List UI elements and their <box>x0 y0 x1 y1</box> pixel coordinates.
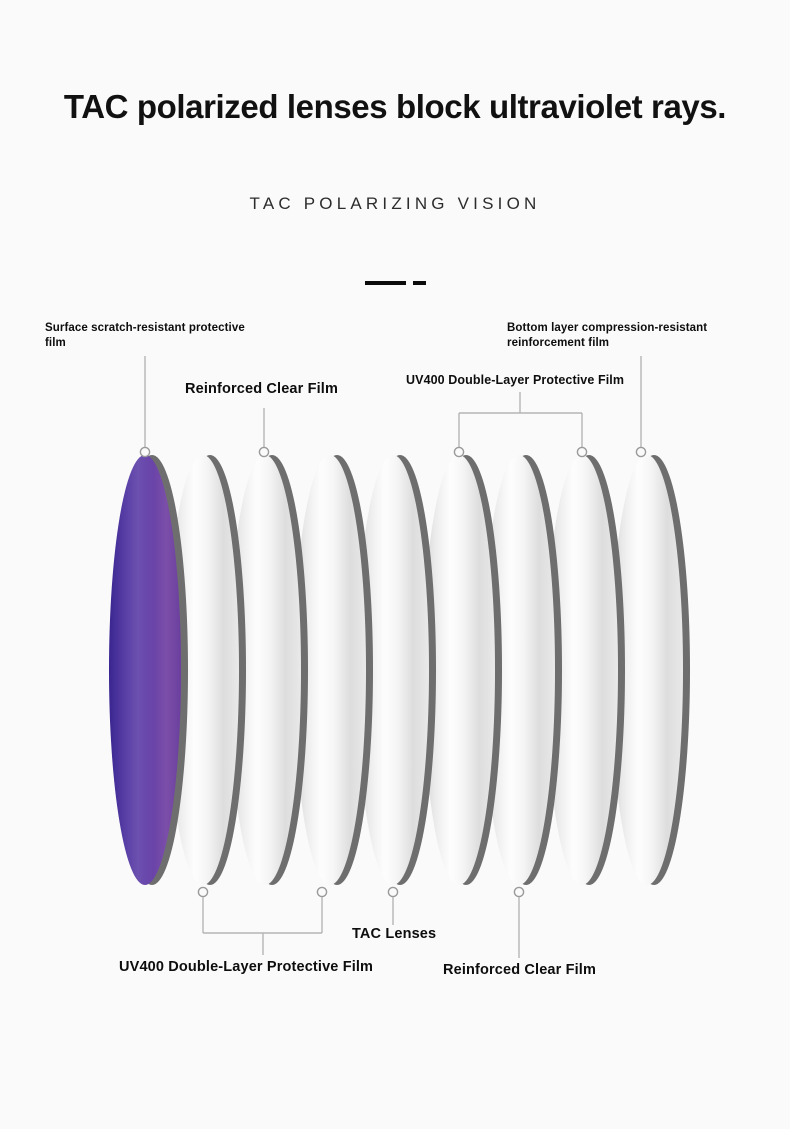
connector-reinforced-clear-bottom <box>514 887 523 958</box>
lens-layer-diagram: Surface scratch-resistant protective fil… <box>0 0 790 1129</box>
infographic-page: TAC polarized lenses block ultraviolet r… <box>0 0 790 1129</box>
connector-reinforced-clear-top <box>259 408 268 457</box>
bottom-connectors <box>198 887 523 958</box>
callout-label-surface-scratch-resistant: Surface scratch-resistant protective fil… <box>45 321 295 352</box>
connector-uv400-bottom-bracket <box>198 887 326 955</box>
callout-label-uv400-double-layer-bottom: UV400 Double-Layer Protective Film <box>119 958 419 977</box>
callout-label-reinforced-clear-film-top: Reinforced Clear Film <box>185 380 415 399</box>
lens-discs <box>109 455 690 885</box>
callout-label-reinforced-clear-film-bottom: Reinforced Clear Film <box>443 961 643 980</box>
connector-uv400-top-bracket <box>454 392 586 457</box>
connector-surface-scratch <box>140 356 149 457</box>
callout-label-tac-lenses: TAC Lenses <box>352 925 492 944</box>
callout-label-bottom-layer-compression: Bottom layer compression-resistant reinf… <box>507 321 757 352</box>
callout-label-uv400-double-layer-top: UV400 Double-Layer Protective Film <box>406 372 666 389</box>
connector-tac-lenses <box>388 887 397 925</box>
lens-disc-1-polarized <box>109 455 188 885</box>
